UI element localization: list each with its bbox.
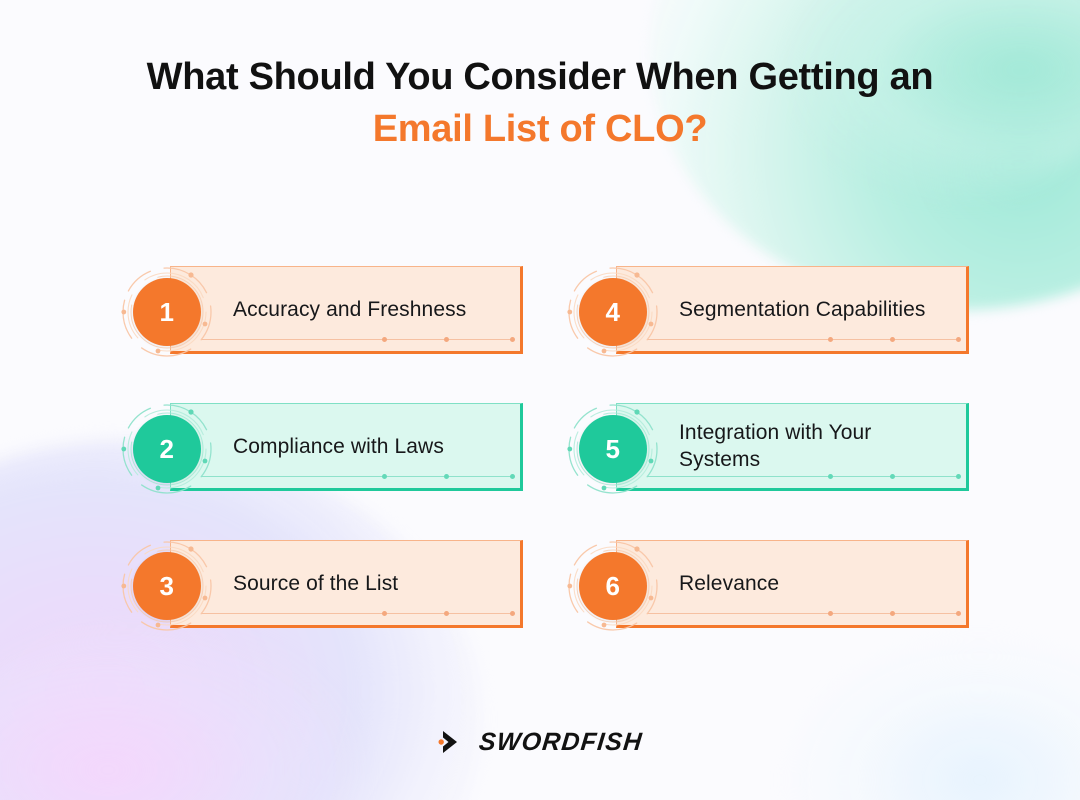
list-item[interactable]: Segmentation Capabilities (563, 262, 969, 362)
panel-rule (647, 339, 959, 340)
rule-dot (890, 337, 895, 342)
list-item-number: 3 (160, 573, 175, 599)
rule-dot (890, 474, 895, 479)
list-item-label: Integration with Your Systems (617, 419, 966, 473)
rule-dot (444, 474, 449, 479)
list-item-number-circle: 4 (579, 278, 647, 346)
list-item-panel: Integration with Your Systems (616, 403, 969, 491)
list-item-panel: Compliance with Laws (170, 403, 523, 491)
rule-dot (956, 611, 961, 616)
panel-rule (201, 613, 513, 614)
list-item-badge: 6 (563, 536, 663, 636)
list-item-number-circle: 3 (133, 552, 201, 620)
list-item-number: 2 (160, 436, 175, 462)
panel-rule (201, 339, 513, 340)
list-item-badge: 2 (117, 399, 217, 499)
rule-dot (828, 474, 833, 479)
rule-dot (444, 337, 449, 342)
infographic-page: What Should You Consider When Getting an… (0, 0, 1080, 800)
list-item-panel: Relevance (616, 540, 969, 628)
rule-dot (382, 474, 387, 479)
rule-dot (828, 611, 833, 616)
panel-rule (647, 476, 959, 477)
brand-logo[interactable]: SWORDFISH (0, 727, 1080, 757)
list-item-label: Segmentation Capabilities (617, 296, 941, 323)
page-title-line-1: What Should You Consider When Getting an (0, 50, 1080, 104)
rule-dot (382, 337, 387, 342)
list-item-badge: 5 (563, 399, 663, 499)
list-item[interactable]: Accuracy and Freshness (117, 262, 523, 362)
list-item-number-circle: 2 (133, 415, 201, 483)
list-item-badge: 1 (117, 262, 217, 362)
list-item[interactable]: Source of the List 3 (117, 536, 523, 636)
rule-dot (382, 611, 387, 616)
list-item-number-circle: 6 (579, 552, 647, 620)
page-title-line-2: Email List of CLO? (0, 102, 1080, 156)
list-item-number-circle: 5 (579, 415, 647, 483)
list-item-panel: Source of the List (170, 540, 523, 628)
page-title: What Should You Consider When Getting an… (0, 50, 1080, 156)
list-item[interactable]: Integration with Your Systems (563, 399, 969, 499)
panel-rule (201, 476, 513, 477)
panel-rule (647, 613, 959, 614)
chevron-right-icon (437, 727, 467, 757)
rule-dot (510, 474, 515, 479)
list-item-number: 1 (160, 299, 175, 325)
list-item-number: 5 (606, 436, 621, 462)
list-item-number-circle: 1 (133, 278, 201, 346)
list-item-label: Accuracy and Freshness (171, 296, 482, 323)
list-item-number: 4 (606, 299, 621, 325)
list-item[interactable]: Compliance with Laws (117, 399, 523, 499)
rule-dot (510, 611, 515, 616)
list-item-panel: Accuracy and Freshness (170, 266, 523, 354)
brand-name: SWORDFISH (478, 728, 645, 757)
rule-dot (444, 611, 449, 616)
rule-dot (510, 337, 515, 342)
list-item-badge: 4 (563, 262, 663, 362)
list-item-badge: 3 (117, 536, 217, 636)
rule-dot (890, 611, 895, 616)
list-item[interactable]: Relevance 6 (563, 536, 969, 636)
rule-dot (956, 474, 961, 479)
list-item-number: 6 (606, 573, 621, 599)
list-item-panel: Segmentation Capabilities (616, 266, 969, 354)
rule-dot (956, 337, 961, 342)
rule-dot (828, 337, 833, 342)
consideration-list: Accuracy and Freshness (117, 262, 969, 636)
